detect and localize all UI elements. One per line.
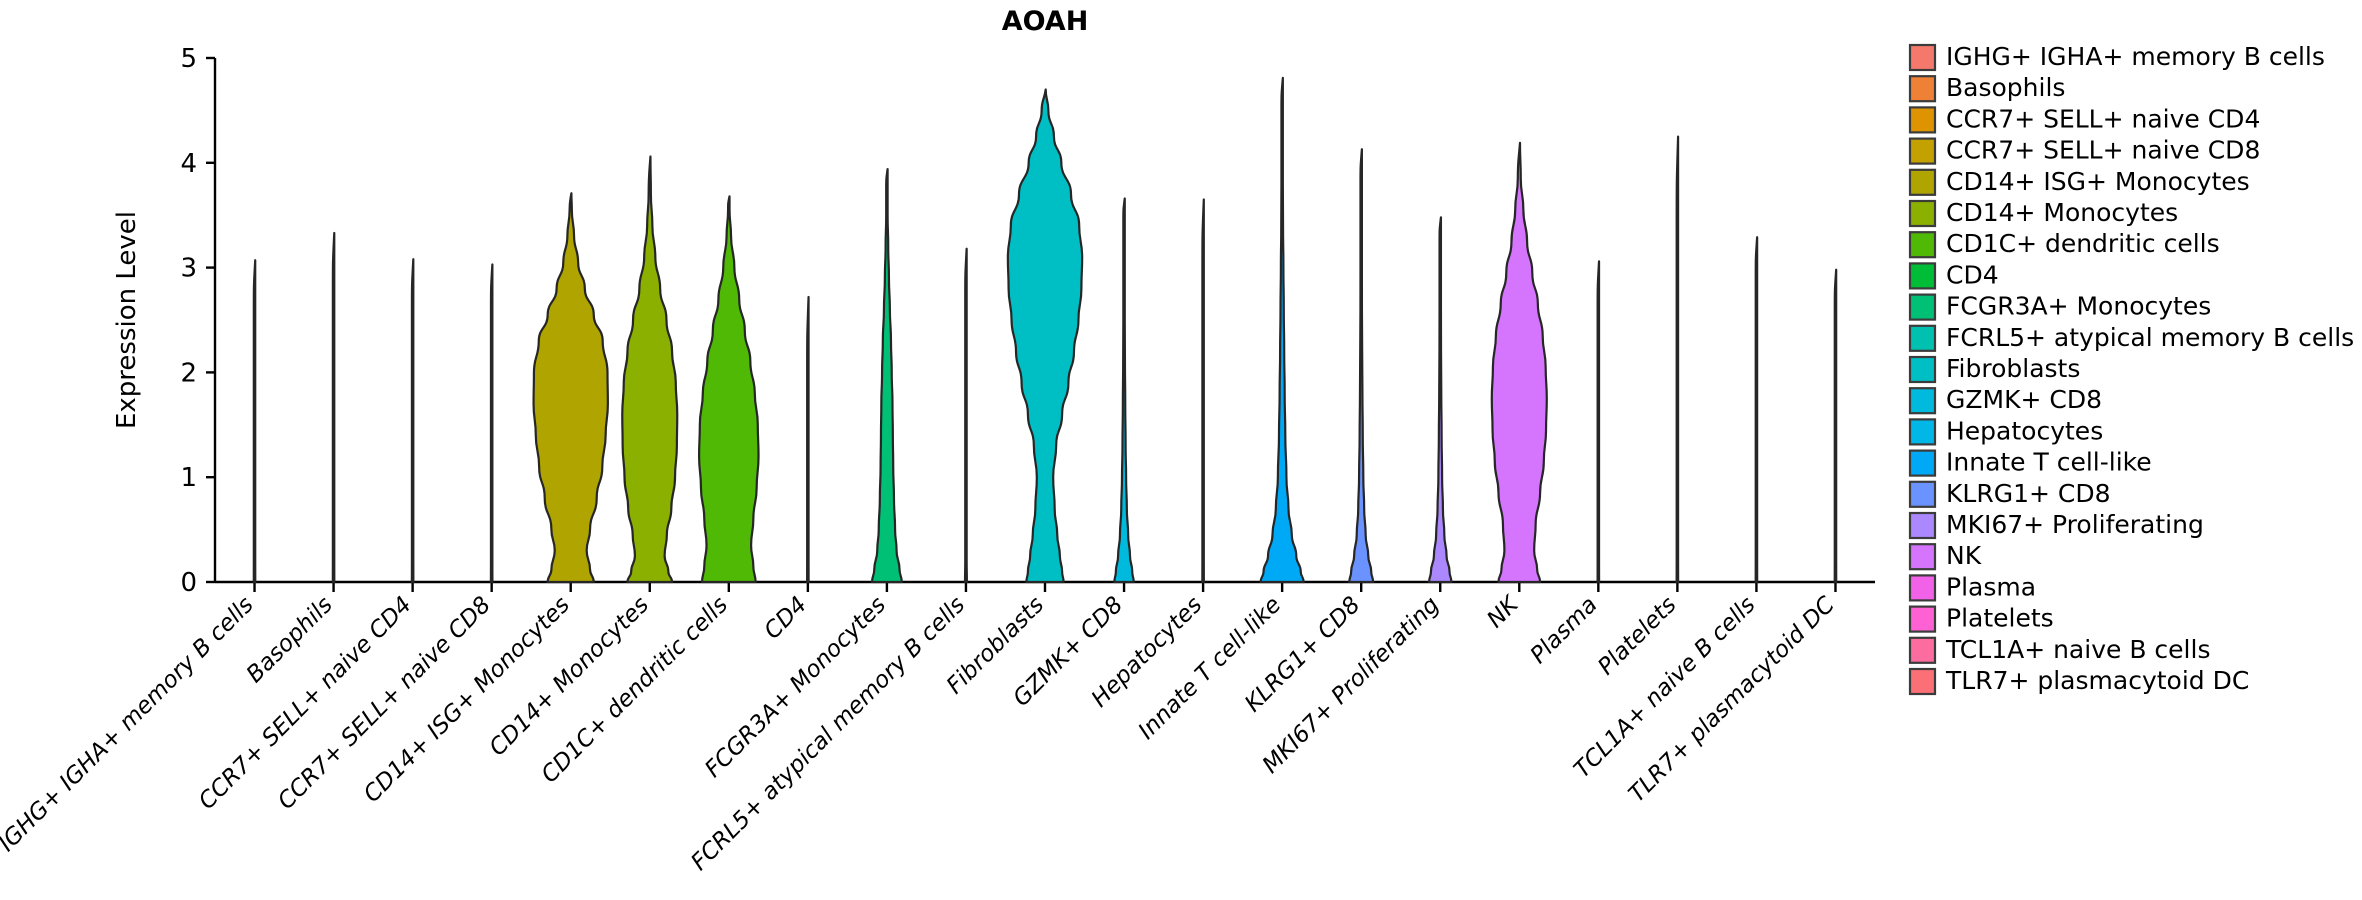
legend-item-label: KLRG1+ CD8 (1946, 479, 2110, 508)
legend-color-swatch (1910, 326, 1935, 351)
violin-fcrl5-atypical-memory-b-cells[interactable] (965, 249, 967, 582)
legend-item[interactable]: TCL1A+ naive B cells (1910, 635, 2210, 664)
legend-item-label: Fibroblasts (1946, 354, 2080, 383)
legend-color-swatch (1910, 451, 1935, 476)
y-tick-label: 4 (180, 149, 197, 179)
legend-item-label: FCGR3A+ Monocytes (1946, 292, 2211, 321)
legend-item[interactable]: Basophils (1910, 73, 2065, 102)
legend-item[interactable]: CD1C+ dendritic cells (1910, 229, 2220, 258)
legend-item-label: CD14+ ISG+ Monocytes (1946, 167, 2250, 196)
violin-ighg-igha-memory-b-cells[interactable] (254, 260, 255, 582)
legend-color-swatch (1910, 76, 1935, 101)
legend-item[interactable]: CD14+ Monocytes (1910, 198, 2178, 227)
violin-body[interactable] (333, 233, 334, 582)
legend-item-label: MKI67+ Proliferating (1946, 510, 2204, 539)
violin-body[interactable] (1835, 270, 1836, 582)
y-axis-title: Expression Level (112, 211, 142, 429)
legend-item-label: Innate T cell-like (1946, 448, 2152, 477)
legend-color-swatch (1910, 544, 1935, 569)
legend-color-swatch (1910, 295, 1935, 320)
legend-item-label: FCRL5+ atypical memory B cells (1946, 323, 2354, 352)
y-tick-label: 0 (180, 568, 197, 598)
violin-plot-figure: AOAH 012345Expression Level IGHG+ IGHA+ … (0, 0, 2362, 900)
page-title: AOAH (1002, 6, 1089, 37)
violin-body[interactable] (254, 260, 255, 582)
legend-item[interactable]: CCR7+ SELL+ naive CD8 (1910, 136, 2260, 165)
violin-ccr7-sell-naive-cd4[interactable] (412, 259, 413, 582)
legend-color-swatch (1910, 607, 1935, 632)
legend-item-label: Plasma (1946, 572, 2036, 601)
legend-color-swatch (1910, 575, 1935, 600)
legend-item[interactable]: CD4 (1910, 260, 1999, 289)
legend-color-swatch (1910, 419, 1935, 444)
y-tick-label: 3 (180, 254, 197, 284)
legend-color-swatch (1910, 513, 1935, 538)
legend-item-label: NK (1946, 541, 1982, 570)
legend-item-label: TLR7+ plasmacytoid DC (1945, 666, 2249, 695)
legend-item-label: TCL1A+ naive B cells (1945, 635, 2210, 664)
violin-body[interactable] (1756, 237, 1757, 582)
legend-item-label: CD1C+ dendritic cells (1946, 229, 2220, 258)
legend-item-label: CCR7+ SELL+ naive CD4 (1946, 104, 2260, 133)
legend-item[interactable]: IGHG+ IGHA+ memory B cells (1910, 42, 2325, 71)
legend-color-swatch (1910, 638, 1935, 663)
legend-item-label: CD4 (1946, 260, 1999, 289)
legend-item-label: GZMK+ CD8 (1946, 385, 2102, 414)
legend-item[interactable]: FCGR3A+ Monocytes (1910, 292, 2211, 321)
violin-hepatocytes[interactable] (1202, 199, 1203, 582)
legend-item[interactable]: Platelets (1910, 604, 2054, 633)
violin-body[interactable] (807, 297, 808, 582)
legend-item[interactable]: Fibroblasts (1910, 354, 2080, 383)
legend-color-swatch (1910, 482, 1935, 507)
violin-tlr7-plasmacytoid-dc[interactable] (1835, 270, 1836, 582)
violin-body[interactable] (1202, 199, 1203, 582)
violin-body[interactable] (412, 259, 413, 582)
legend-color-swatch (1910, 357, 1935, 382)
y-tick-label: 2 (180, 358, 197, 388)
legend-color-swatch (1910, 170, 1935, 195)
legend-item-label: Hepatocytes (1946, 416, 2103, 445)
legend-item[interactable]: CCR7+ SELL+ naive CD4 (1910, 104, 2260, 133)
legend-color-swatch (1910, 232, 1935, 257)
legend-color-swatch (1910, 201, 1935, 226)
violin-body[interactable] (965, 249, 967, 582)
violin-plasma[interactable] (1598, 261, 1599, 582)
legend-item-label: Platelets (1946, 604, 2054, 633)
violin-ccr7-sell-naive-cd8[interactable] (491, 264, 492, 582)
legend-item[interactable]: Plasma (1910, 572, 2036, 601)
legend-color-swatch (1910, 388, 1935, 413)
legend-item-label: CCR7+ SELL+ naive CD8 (1946, 136, 2260, 165)
legend-item[interactable]: FCRL5+ atypical memory B cells (1910, 323, 2354, 352)
legend-color-swatch (1910, 263, 1935, 288)
y-tick-label: 5 (180, 44, 197, 74)
violin-tcl1a-naive-b-cells[interactable] (1756, 237, 1757, 582)
legend-item[interactable]: NK (1910, 541, 1982, 570)
legend-item-label: Basophils (1946, 73, 2065, 102)
violin-basophils[interactable] (333, 233, 334, 582)
y-tick-label: 1 (180, 463, 197, 493)
violin-body[interactable] (491, 264, 492, 582)
legend-color-swatch (1910, 139, 1935, 164)
legend-color-swatch (1910, 107, 1935, 132)
violin-cd4[interactable] (807, 297, 808, 582)
legend-item[interactable]: Innate T cell-like (1910, 448, 2152, 477)
violin-body[interactable] (1677, 137, 1678, 582)
legend-color-swatch (1910, 669, 1935, 694)
legend-item-label: CD14+ Monocytes (1946, 198, 2178, 227)
legend-item-label: IGHG+ IGHA+ memory B cells (1946, 42, 2325, 71)
legend-color-swatch (1910, 45, 1935, 70)
legend-item[interactable]: TLR7+ plasmacytoid DC (1910, 666, 2249, 695)
legend-item[interactable]: CD14+ ISG+ Monocytes (1910, 167, 2250, 196)
violin-platelets[interactable] (1677, 137, 1678, 582)
violin-body[interactable] (1598, 261, 1599, 582)
legend-item[interactable]: MKI67+ Proliferating (1910, 510, 2204, 539)
